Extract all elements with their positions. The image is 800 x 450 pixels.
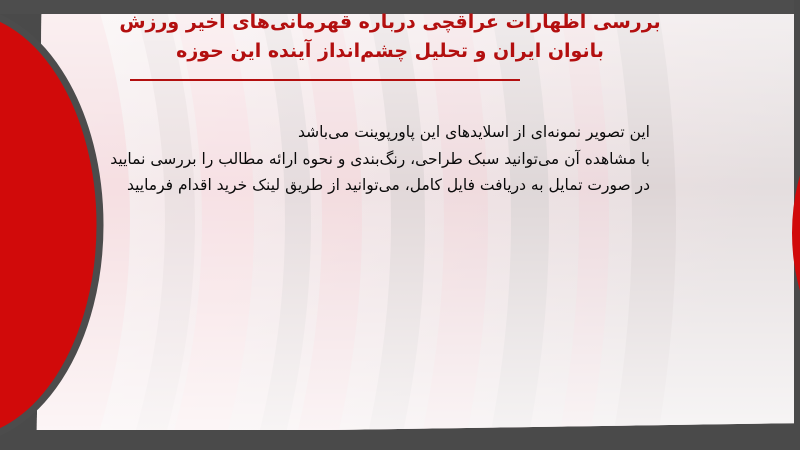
slide-body-line-2: با مشاهده آن می‌توانید سبک طراحی، رنگ‌بن… (30, 146, 650, 173)
title-underline-rule (130, 79, 520, 81)
slide-title-line-2: بانوان ایران و تحلیل چشم‌انداز آینده این… (60, 37, 720, 66)
slide-body-line-3: در صورت تمایل به دریافت فایل کامل، می‌تو… (30, 172, 650, 199)
slide-body-text: این تصویر نمونه‌ای از اسلایدهای این پاور… (30, 119, 650, 199)
frame-bottom-band (0, 430, 800, 450)
slide-canvas: بررسی اظهارات عراقچی درباره قهرمانی‌های … (0, 0, 800, 450)
right-red-oval-decoration (762, 102, 800, 364)
left-red-oval-decoration (0, 4, 112, 446)
slide-title-line-1: بررسی اظهارات عراقچی درباره قهرمانی‌های … (60, 8, 720, 37)
background-arc-pattern (18, 6, 800, 436)
slide-title: بررسی اظهارات عراقچی درباره قهرمانی‌های … (60, 8, 720, 65)
slide-body-line-1: این تصویر نمونه‌ای از اسلایدهای این پاور… (30, 119, 650, 146)
slide-content-plate (18, 6, 800, 436)
